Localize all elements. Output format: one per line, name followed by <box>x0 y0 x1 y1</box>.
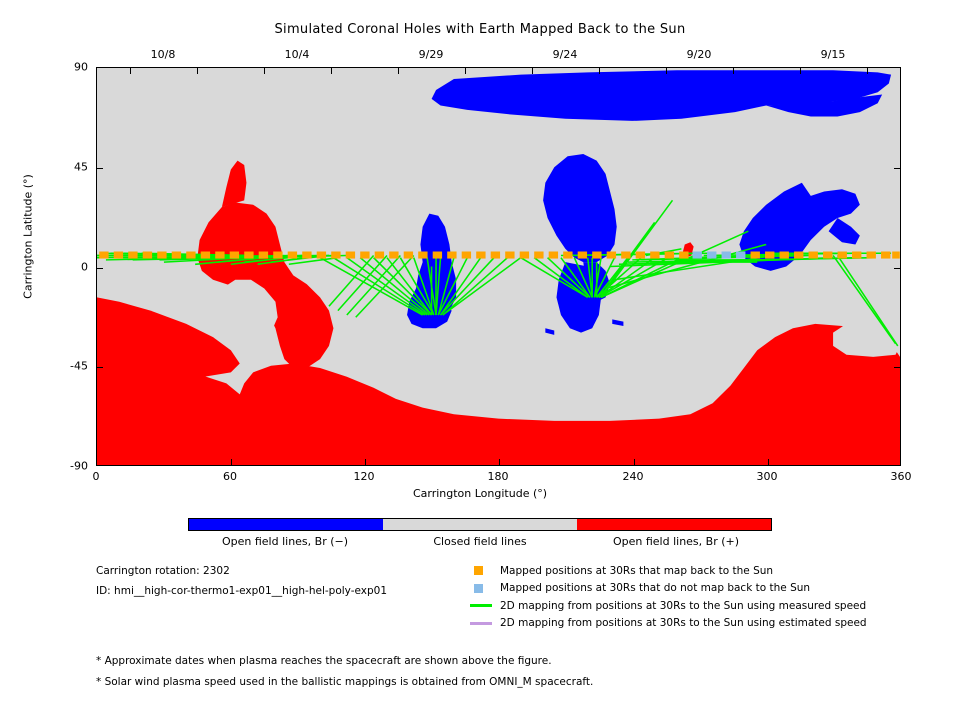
y-axis-title: Carrington Latitude (°) <box>22 57 35 417</box>
top-tick <box>666 68 667 74</box>
figure-root: Simulated Coronal Holes with Earth Mappe… <box>0 0 960 720</box>
top-tick <box>130 68 131 74</box>
x-axis-title: Carrington Longitude (°) <box>0 487 960 500</box>
x-tick-label: 60 <box>223 470 237 483</box>
top-tick <box>264 68 265 74</box>
legend-item-unmapped: Mapped positions at 30Rs that do not map… <box>470 580 867 598</box>
colorbar-segment-closed <box>383 519 577 530</box>
x-tick-label: 240 <box>623 470 644 483</box>
x-tick-label: 120 <box>354 470 375 483</box>
bottom-tick <box>365 459 366 465</box>
date-tick-label: 9/29 <box>419 48 444 61</box>
x-tick-label: 300 <box>757 470 778 483</box>
date-tick-label: 10/4 <box>285 48 310 61</box>
x-tick-label: 0 <box>93 470 100 483</box>
right-tick <box>894 367 900 368</box>
run-id-text: ID: hmi__high-cor-thermo1-exp01__high-he… <box>96 585 387 597</box>
map-canvas <box>97 68 900 465</box>
region-equatorial-negative-speck-d <box>545 328 554 335</box>
region-equatorial-negative-hole-right-spur <box>829 218 860 244</box>
field-line-colorbar <box>188 518 772 531</box>
region-equatorial-negative-speck-e <box>612 319 623 326</box>
legend-item-estimated-speed: 2D mapping from positions at 30Rs to the… <box>470 615 867 633</box>
bottom-tick <box>499 459 500 465</box>
colorbar-segment-positive <box>577 519 771 530</box>
right-tick <box>894 268 900 269</box>
legend-item-mapped: Mapped positions at 30Rs that map back t… <box>470 562 867 580</box>
region-south-polar-notch <box>833 324 900 357</box>
left-tick <box>97 168 103 169</box>
top-tick <box>867 68 868 74</box>
date-tick-label: 9/15 <box>821 48 846 61</box>
coronal-hole-map <box>96 67 901 466</box>
right-tick <box>894 168 900 169</box>
lightblue-square-icon <box>470 584 500 593</box>
top-tick <box>800 68 801 74</box>
legend: Mapped positions at 30Rs that map back t… <box>470 562 867 632</box>
legend-label: Mapped positions at 30Rs that do not map… <box>500 582 810 594</box>
x-tick-label: 360 <box>891 470 912 483</box>
footnote-dates: * Approximate dates when plasma reaches … <box>96 655 552 667</box>
colorbar-label-negative: Open field lines, Br (−) <box>222 535 348 548</box>
bottom-tick <box>231 459 232 465</box>
legend-label: 2D mapping from positions at 30Rs to the… <box>500 617 867 629</box>
left-tick <box>97 367 103 368</box>
region-equatorial-negative-hole-center <box>543 154 617 262</box>
orange-square-icon <box>470 566 500 575</box>
bottom-tick <box>768 459 769 465</box>
date-tick-label: 9/24 <box>553 48 578 61</box>
mapped-position-markers <box>99 252 900 259</box>
top-tick <box>331 68 332 74</box>
date-tick-label: 9/20 <box>687 48 712 61</box>
figure-title: Simulated Coronal Holes with Earth Mappe… <box>0 22 960 37</box>
left-tick <box>97 268 103 269</box>
top-tick <box>532 68 533 74</box>
carrington-rotation-text: Carrington rotation: 2302 <box>96 565 230 577</box>
colorbar-label-closed: Closed field lines <box>433 535 526 548</box>
purple-line-icon <box>470 622 500 625</box>
top-tick <box>465 68 466 74</box>
colorbar-segment-negative <box>189 519 383 530</box>
region-north-polar-speck-b <box>501 86 517 89</box>
y-tick-label: 90 <box>52 61 88 74</box>
legend-label: 2D mapping from positions at 30Rs to the… <box>500 600 866 612</box>
top-tick <box>733 68 734 74</box>
y-tick-label: -45 <box>46 360 88 373</box>
y-tick-label: 45 <box>52 160 88 173</box>
top-tick <box>197 68 198 74</box>
footnote-speed-source: * Solar wind plasma speed used in the ba… <box>96 676 593 688</box>
region-mid-latitude-positive-hole-left-spike <box>222 161 247 207</box>
top-tick <box>398 68 399 74</box>
colorbar-label-positive: Open field lines, Br (+) <box>613 535 739 548</box>
date-tick-label: 10/8 <box>151 48 176 61</box>
top-tick <box>599 68 600 74</box>
bottom-tick <box>634 459 635 465</box>
region-north-polar-speck-a <box>463 83 490 86</box>
green-line-icon <box>470 604 500 607</box>
legend-item-measured-speed: 2D mapping from positions at 30Rs to the… <box>470 597 867 615</box>
x-tick-label: 180 <box>488 470 509 483</box>
y-tick-label: -90 <box>46 460 88 473</box>
y-tick-label: 0 <box>52 260 88 273</box>
legend-label: Mapped positions at 30Rs that map back t… <box>500 565 773 577</box>
